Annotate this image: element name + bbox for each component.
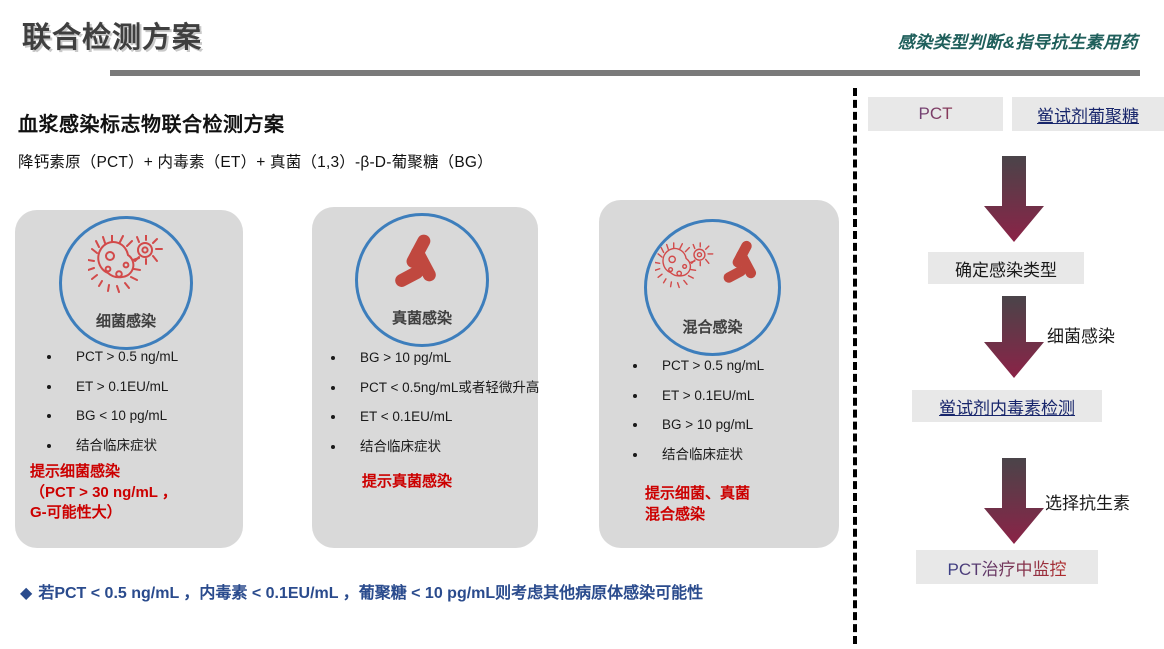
header-subtitle: 感染类型判断&指导抗生素用药 [898, 28, 1138, 53]
diamond-bullet-icon: ◆ [20, 585, 32, 602]
header-divider-rule [110, 70, 1140, 76]
card-bullets-bacterial: PCT > 0.5 ng/mL ET > 0.1EU/mL BG < 10 pg… [46, 349, 178, 467]
vertical-dashed-divider [853, 88, 857, 644]
section-title: 血浆感染标志物联合检测方案 [18, 108, 285, 137]
section-formula: 降钙素原（PCT）+ 内毒素（ET）+ 真菌（1,3）-β-D-葡聚糖（BG） [18, 150, 493, 172]
flow-box-pct-monitoring: PCT治疗中监控 [916, 550, 1098, 584]
card-bullets-fungal: BG > 10 pg/mL PCT < 0.5ng/mL或者轻微升高 ET < … [330, 350, 539, 468]
list-item: 结合临床症状 [648, 447, 764, 462]
card-conclusion-mixed: 提示细菌、真菌 混合感染 [645, 484, 750, 525]
circle-label: 混合感染 [647, 316, 778, 337]
branch-label-select-antibiotic: 选择抗生素 [1045, 489, 1130, 514]
flow-box-endotoxin-test: 鲎试剂内毒素检测 [912, 390, 1102, 422]
list-item: ET > 0.1EU/mL [648, 388, 764, 403]
mixed-infection-icon [647, 232, 778, 302]
list-item: PCT < 0.5ng/mL或者轻微升高 [346, 380, 539, 395]
flow-box-pct-monitoring-label: PCT治疗中监控 [948, 555, 1067, 580]
list-item: ET > 0.1EU/mL [62, 379, 178, 394]
circle-fungal-infection: 真菌感染 [355, 213, 489, 347]
arrow-down-2 [982, 296, 1046, 383]
list-item: BG < 10 pg/mL [62, 408, 178, 423]
fungus-icon [358, 226, 486, 296]
page-title: 联合检测方案 [22, 14, 202, 56]
list-item: BG > 10 pg/mL [648, 417, 764, 432]
list-item: PCT > 0.5 ng/mL [62, 349, 178, 364]
circle-label: 真菌感染 [358, 307, 486, 328]
arrow-down-1 [982, 156, 1046, 247]
circle-label: 细菌感染 [62, 310, 190, 331]
circle-bacterial-infection: 细菌感染 [59, 216, 193, 350]
card-conclusion-bacterial: 提示细菌感染 （PCT > 30 ng/mL ， G-可能性大） [30, 462, 177, 524]
list-item: 结合临床症状 [346, 439, 539, 454]
list-item: PCT > 0.5 ng/mL [648, 358, 764, 373]
flow-box-determine-infection-type: 确定感染类型 [928, 252, 1084, 284]
bacteria-icon [62, 229, 190, 299]
flow-box-glucan-test: 鲎试剂葡聚糖 [1012, 97, 1164, 131]
card-conclusion-fungal: 提示真菌感染 [362, 472, 452, 493]
footer-note: ◆若PCT < 0.5 ng/mL ，内毒素 < 0.1EU/mL ，葡聚糖 <… [20, 580, 840, 608]
card-bullets-mixed: PCT > 0.5 ng/mL ET > 0.1EU/mL BG > 10 pg… [632, 358, 764, 476]
circle-mixed-infection: 混合感染 [644, 219, 781, 356]
branch-label-bacterial-infection: 细菌感染 [1047, 322, 1115, 347]
list-item: 结合临床症状 [62, 438, 178, 453]
flow-box-pct: PCT [868, 97, 1003, 131]
list-item: ET < 0.1EU/mL [346, 409, 539, 424]
list-item: BG > 10 pg/mL [346, 350, 539, 365]
footer-note-text: 若PCT < 0.5 ng/mL ，内毒素 < 0.1EU/mL ，葡聚糖 < … [38, 585, 703, 602]
arrow-down-3 [982, 458, 1046, 549]
